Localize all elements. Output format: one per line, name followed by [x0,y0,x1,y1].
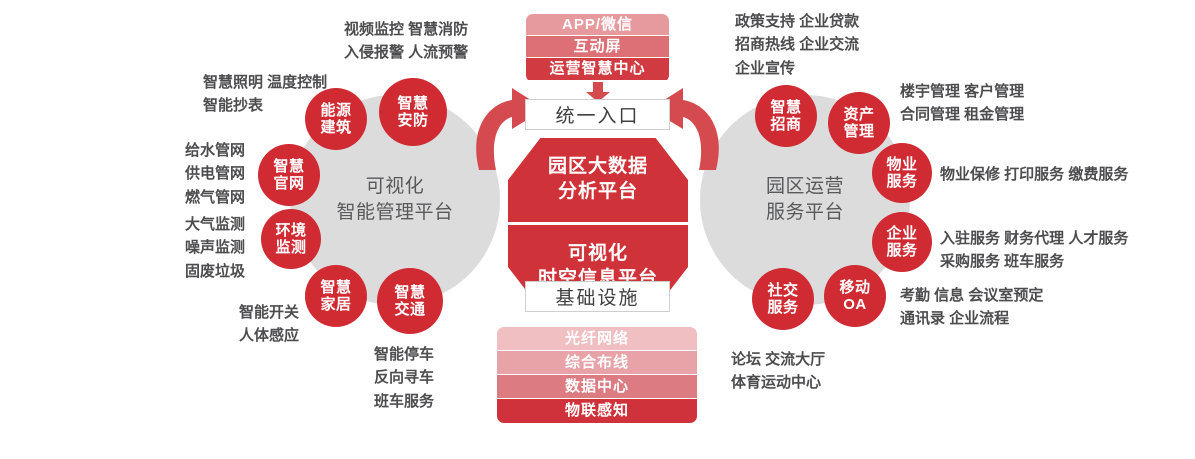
channel-row-interactive-screen[interactable]: 互动屏 [526,36,669,58]
note-pipe-network: 给水管网 供电管网 燃气管网 [185,139,245,209]
node-mobile-oa[interactable]: 移动 OA [824,265,886,327]
node-enterprise-service[interactable]: 企业 服务 [872,212,932,272]
note-enterprise: 入驻服务 财务代理 人才服务 采购服务 班车服务 [940,227,1128,274]
note-traffic: 智能停车 反向寻车 班车服务 [374,343,434,413]
note-oa: 考勤 信息 会议室预定 通讯录 企业流程 [900,284,1043,331]
channel-stack: APP/微信 互动屏 运营智慧中心 [526,14,669,82]
note-environment: 大气监测 噪声监测 固废垃圾 [185,213,245,283]
infrastructure-stack: 光纤网络 综合布线 数据中心 物联感知 [497,327,697,423]
note-property: 物业保修 打印服务 缴费服务 [940,163,1128,186]
node-social-service[interactable]: 社交 服务 [752,268,814,330]
infra-row-structured-cabling[interactable]: 综合布线 [497,351,697,375]
node-environment-monitor[interactable]: 环境 监测 [261,209,321,269]
note-home: 智能开关 人体感应 [239,301,299,348]
right-platform-title: 园区运营 服务平台 [766,174,844,225]
note-energy: 智慧照明 温度控制 智能抄表 [203,71,327,118]
infra-row-data-center[interactable]: 数据中心 [497,375,697,399]
note-social: 论坛 交流大厅 体育运动中心 [731,348,825,395]
infra-row-iot-sensing[interactable]: 物联感知 [497,399,697,423]
channel-row-app[interactable]: APP/微信 [526,14,669,36]
node-asset-management[interactable]: 资产 管理 [828,92,890,154]
note-investment: 政策支持 企业贷款 招商热线 企业交流 企业宣传 [735,10,859,80]
node-smart-website[interactable]: 智慧 官网 [258,144,320,206]
channel-row-operation-center[interactable]: 运营智慧中心 [526,58,669,80]
node-smart-traffic[interactable]: 智慧 交通 [377,268,443,334]
note-security: 视频监控 智慧消防 入侵报警 人流预警 [344,18,468,65]
node-property-service[interactable]: 物业 服务 [872,143,932,203]
infrastructure-box[interactable]: 基础设施 [525,281,670,312]
note-asset: 楼宇管理 客户管理 合同管理 租金管理 [900,80,1024,127]
node-smart-security[interactable]: 智慧 安防 [379,78,447,146]
node-smart-home[interactable]: 智慧 家居 [305,265,367,327]
hex-big-data-platform[interactable]: 园区大数据 分析平台 [508,138,688,222]
infra-row-fiber-network[interactable]: 光纤网络 [497,327,697,351]
diagram-canvas: 可视化 智能管理平台 园区运营 服务平台 APP/微信 互动屏 运营智慧中心 统… [0,0,1195,459]
left-platform-title: 可视化 智能管理平台 [336,174,453,225]
unified-entry-box[interactable]: 统一入口 [525,99,670,130]
node-smart-investment[interactable]: 智慧 招商 [755,85,817,147]
